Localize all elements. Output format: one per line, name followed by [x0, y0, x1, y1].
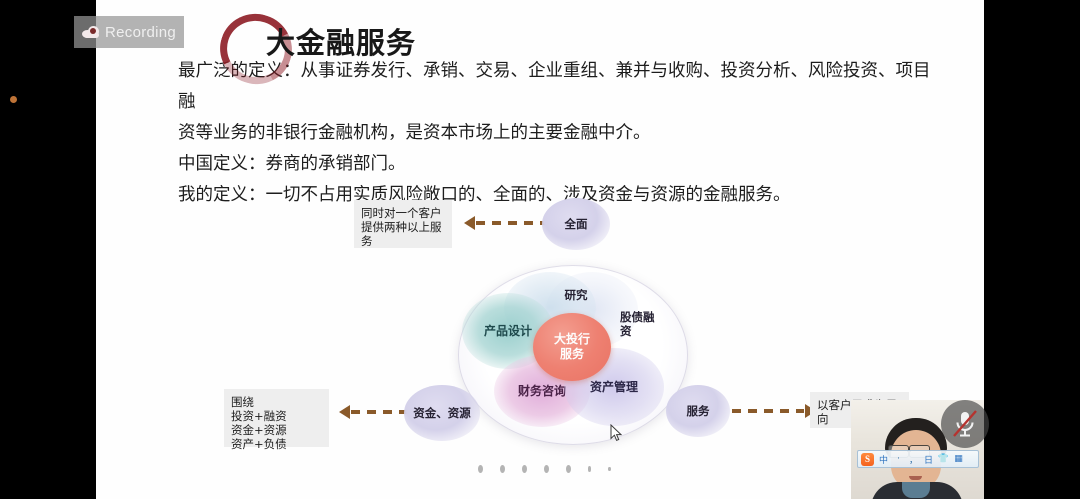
satellite-service: 服务: [666, 385, 730, 437]
arrow-dash: [476, 221, 548, 225]
pagination-dot[interactable]: [566, 465, 571, 473]
pagination-dot[interactable]: [544, 465, 549, 473]
label-edf-line-2: 资: [620, 324, 664, 338]
microphone-muted-icon: [952, 410, 978, 438]
slide-title-group: 大金融服务: [192, 14, 492, 62]
note-top: 同时对一个客户 提供两种以上服 务: [354, 200, 452, 248]
arrow-right: [732, 404, 816, 418]
recording-label: Recording: [105, 24, 176, 41]
arrow-head-left-icon: [339, 405, 350, 419]
note-left-line-4: 资产+负债: [231, 437, 322, 451]
ime-chinese-mode-icon[interactable]: 中: [878, 454, 889, 465]
note-left: 围绕 投资+融资 资金+资源 资产+负债: [224, 389, 329, 447]
label-equity-debt-financing: 股债融 资: [620, 310, 664, 338]
pagination-dots[interactable]: [478, 462, 628, 476]
note-left-line-3: 资金+资源: [231, 423, 322, 437]
right-letterbox-bar: [984, 0, 1080, 499]
pagination-dot[interactable]: [608, 467, 610, 471]
pagination-dot[interactable]: [500, 465, 505, 473]
satellite-capital-resources: 资金、资源: [404, 385, 480, 441]
arrow-dash: [732, 409, 804, 413]
arrow-top: [464, 216, 548, 230]
core-line-1: 大投行: [554, 332, 590, 347]
note-left-line-1: 围绕: [231, 395, 322, 409]
note-top-line-2: 提供两种以上服: [361, 220, 445, 234]
person-mouth: [909, 476, 922, 480]
sogou-ime-toolbar[interactable]: S 中 · ， 日 👕 ▦: [857, 450, 979, 468]
note-top-line-3: 务: [361, 234, 445, 248]
core-circle-investment-banking: 大投行 服务: [533, 313, 611, 381]
ime-punctuation-icon[interactable]: ，: [908, 454, 919, 465]
pagination-dot[interactable]: [522, 465, 527, 473]
arrow-head-left-icon: [464, 216, 475, 230]
satellite-comprehensive: 全面: [542, 198, 610, 250]
ime-calendar-icon[interactable]: 日: [923, 454, 934, 465]
label-edf-line-1: 股债融: [620, 310, 664, 324]
note-left-line-2: 投资+融资: [231, 409, 322, 423]
recording-indicator: Recording: [74, 16, 184, 48]
person-collar: [902, 482, 930, 498]
page-title: 大金融服务: [266, 20, 416, 62]
pagination-dot[interactable]: [588, 466, 592, 472]
ime-toolbox-icon[interactable]: ▦: [953, 454, 964, 465]
ime-fullwidth-icon[interactable]: ·: [893, 454, 904, 465]
ime-skin-icon[interactable]: 👕: [938, 454, 949, 465]
core-line-2: 服务: [554, 347, 590, 362]
label-research: 研究: [548, 288, 604, 302]
mouse-cursor: [610, 424, 622, 442]
microphone-mute-button[interactable]: [941, 400, 989, 448]
sogou-logo-icon[interactable]: S: [861, 453, 874, 466]
cloud-record-icon: [82, 26, 100, 38]
pagination-dot[interactable]: [478, 465, 483, 473]
left-edge-indicator-dot: [10, 96, 17, 103]
meeting-screen-share: 大金融服务 最广泛的定义：从事证券发行、承销、交易、企业重组、兼并与收购、投资分…: [0, 0, 1080, 499]
note-top-line-1: 同时对一个客户: [361, 206, 445, 220]
